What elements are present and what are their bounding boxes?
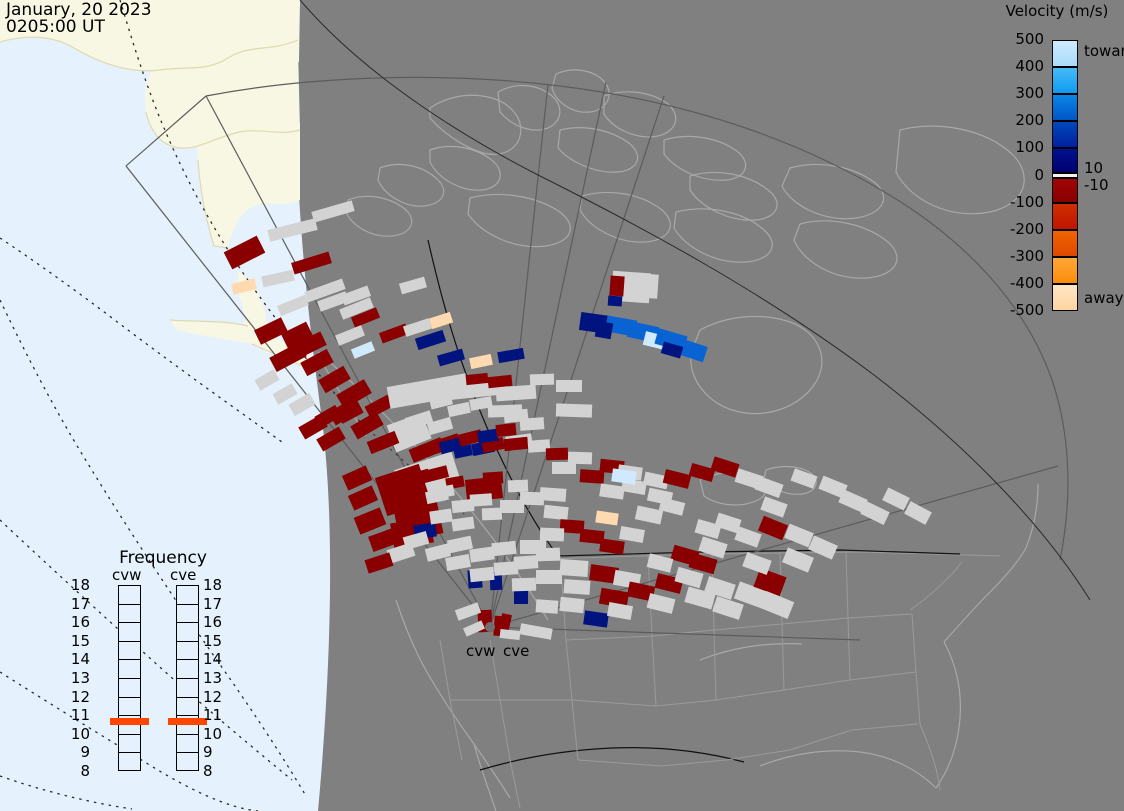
frequency-tick-cve-8: 8 bbox=[203, 764, 213, 779]
colorbar-tick--500: -500 bbox=[996, 303, 1044, 318]
colorbar-zero-gap bbox=[1052, 173, 1078, 178]
colorbar-band bbox=[1052, 230, 1078, 257]
frequency-tick-cvw-15: 15 bbox=[68, 634, 90, 649]
colorbar-band bbox=[1052, 284, 1078, 311]
radar-cell bbox=[559, 597, 584, 613]
colorbar-band bbox=[1052, 40, 1078, 67]
colorbar-tick--200: -200 bbox=[996, 222, 1044, 237]
colorbar-tick-0: 0 bbox=[996, 168, 1044, 183]
radar-cell bbox=[470, 493, 493, 507]
colorbar-title: Velocity (m/s) bbox=[994, 2, 1120, 20]
radar-cell bbox=[556, 403, 592, 417]
colorbar-band bbox=[1052, 121, 1078, 148]
frequency-tick-cvw-10: 10 bbox=[68, 727, 90, 742]
colorbar-tick--300: -300 bbox=[996, 249, 1044, 264]
radar-cell bbox=[635, 273, 659, 298]
radar-cell bbox=[568, 452, 592, 465]
frequency-marker-cve bbox=[168, 718, 207, 725]
radar-cell bbox=[503, 437, 528, 451]
colorbar-band bbox=[1052, 67, 1078, 94]
frequency-scale-cve bbox=[176, 585, 199, 771]
radar-cell bbox=[546, 448, 568, 461]
radar-cell bbox=[496, 385, 537, 402]
radar-cell bbox=[536, 570, 562, 584]
colorbar-band bbox=[1052, 178, 1078, 202]
frequency-tick-cvw-16: 16 bbox=[68, 615, 90, 630]
frequency-tick-cve-9: 9 bbox=[203, 745, 213, 760]
timestamp: January, 20 20230205:00 UT bbox=[6, 2, 152, 36]
frequency-tick-cve-12: 12 bbox=[203, 690, 222, 705]
radar-cell bbox=[514, 590, 528, 604]
frequency-tick-cvw-18: 18 bbox=[68, 578, 90, 593]
colorbar-tick--100: -100 bbox=[996, 195, 1044, 210]
colorbar-tick-500: 500 bbox=[996, 32, 1044, 47]
radar-cell bbox=[494, 561, 519, 576]
frequency-column-label-cve: cve bbox=[170, 566, 196, 584]
radar-cell bbox=[483, 471, 504, 484]
frequency-gridline bbox=[177, 586, 198, 753]
radar-cell bbox=[512, 578, 536, 592]
radar-cell bbox=[608, 296, 623, 307]
frequency-tick-cve-15: 15 bbox=[203, 634, 222, 649]
radar-cell bbox=[543, 505, 568, 520]
frequency-tick-cve-18: 18 bbox=[203, 578, 222, 593]
radar-cell bbox=[540, 528, 564, 542]
colorbar-tick-100: 100 bbox=[996, 140, 1044, 155]
radar-cell bbox=[609, 276, 624, 297]
radar-cell bbox=[540, 487, 567, 502]
frequency-title: Frequency bbox=[88, 548, 238, 568]
frequency-tick-cvw-11: 11 bbox=[68, 708, 90, 723]
radar-cell bbox=[536, 548, 560, 562]
frequency-tick-cvw-17: 17 bbox=[68, 597, 90, 612]
frequency-tick-cvw-12: 12 bbox=[68, 690, 90, 705]
radar-map-plot: January, 20 20230205:00 UT cvwcve Veloci… bbox=[0, 0, 1124, 811]
colorbar-tick--400: -400 bbox=[996, 276, 1044, 291]
colorbar-tick-400: 400 bbox=[996, 59, 1044, 74]
frequency-tick-cvw-14: 14 bbox=[68, 652, 90, 667]
colorbar-positive-threshold-label: 10 bbox=[1084, 161, 1103, 176]
frequency-column-label-cvw: cvw bbox=[112, 566, 141, 584]
radar-cell bbox=[559, 559, 588, 577]
radar-cell bbox=[482, 508, 502, 521]
radar-cell bbox=[469, 567, 494, 582]
frequency-tick-cve-13: 13 bbox=[203, 671, 222, 686]
frequency-tick-cvw-13: 13 bbox=[68, 671, 90, 686]
radar-cell bbox=[564, 579, 591, 595]
colorbar-negative-threshold-label: -10 bbox=[1084, 178, 1109, 193]
frequency-tick-cve-11: 11 bbox=[203, 708, 222, 723]
radar-cell bbox=[530, 374, 554, 386]
colorbar-band bbox=[1052, 203, 1078, 230]
frequency-tick-cve-17: 17 bbox=[203, 597, 222, 612]
radar-cell bbox=[520, 417, 545, 431]
colorbar-toward-label: toward bbox=[1084, 44, 1124, 59]
frequency-tick-cvw-9: 9 bbox=[68, 745, 90, 760]
radar-cell bbox=[491, 541, 516, 556]
radar-cell bbox=[552, 462, 576, 474]
radar-cell bbox=[556, 380, 582, 392]
frequency-marker-cvw bbox=[110, 718, 149, 725]
frequency-gridline bbox=[119, 586, 140, 753]
colorbar-band bbox=[1052, 257, 1078, 284]
colorbar-tick-300: 300 bbox=[996, 86, 1044, 101]
colorbar-tick-200: 200 bbox=[996, 113, 1044, 128]
time-label: 0205:00 UT bbox=[6, 17, 105, 37]
colorbar-away-label: away bbox=[1084, 291, 1124, 306]
frequency-tick-cve-14: 14 bbox=[203, 652, 222, 667]
colorbar-band bbox=[1052, 148, 1078, 172]
frequency-scale-cvw bbox=[118, 585, 141, 771]
frequency-tick-cvw-8: 8 bbox=[68, 764, 90, 779]
radar-cell bbox=[495, 423, 516, 437]
colorbar-band bbox=[1052, 94, 1078, 121]
radar-site-label-cve: cve bbox=[503, 644, 529, 659]
radar-site-dot bbox=[485, 622, 495, 632]
radar-cell bbox=[595, 321, 614, 340]
frequency-tick-cve-16: 16 bbox=[203, 615, 222, 630]
radar-cell bbox=[508, 480, 528, 493]
radar-site-label-cvw: cvw bbox=[466, 644, 495, 659]
frequency-tick-cve-10: 10 bbox=[203, 727, 222, 742]
radar-cell bbox=[536, 599, 559, 614]
